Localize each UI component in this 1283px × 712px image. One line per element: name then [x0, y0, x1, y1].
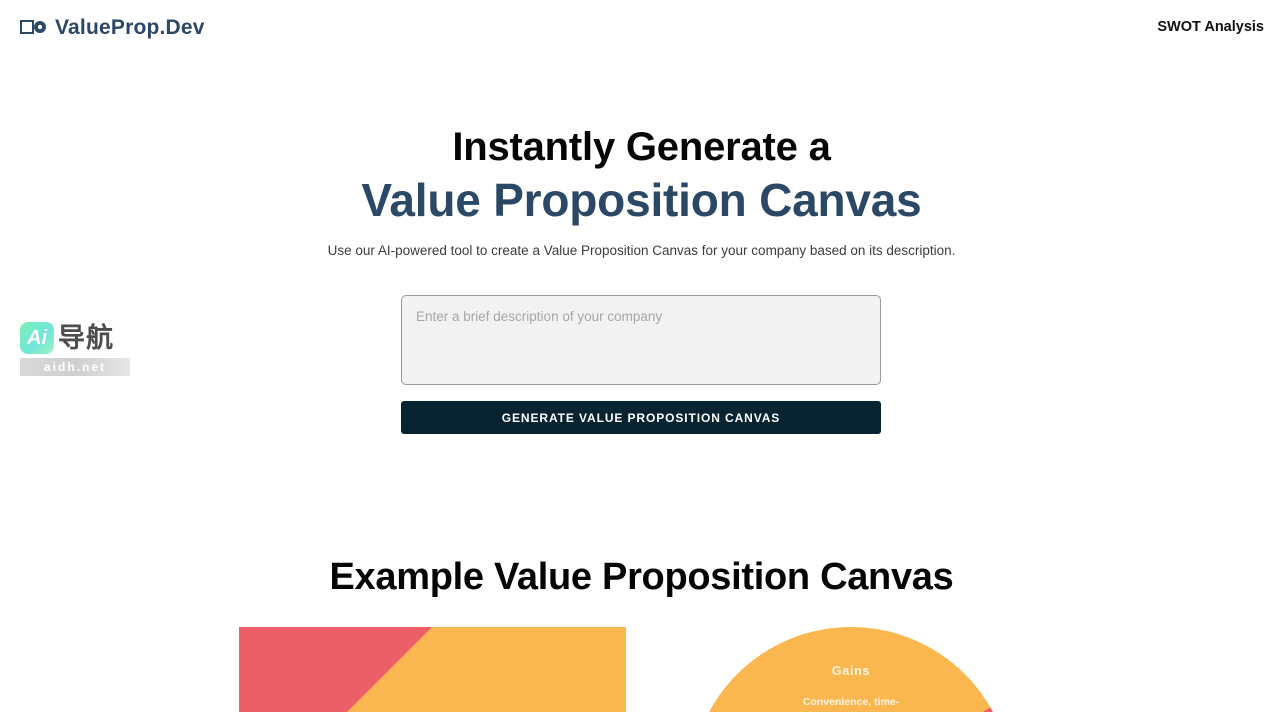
watermark-url: aidh.net: [20, 358, 130, 376]
company-description-input[interactable]: [401, 295, 881, 385]
example-section-heading: Example Value Proposition Canvas: [0, 556, 1283, 599]
brand-logo[interactable]: ValueProp.Dev: [20, 17, 205, 38]
value-map-square[interactable]: Gain Creators Exclusive deals and: [239, 627, 626, 712]
generator-form: Generate Value Proposition Canvas: [401, 295, 881, 434]
aidh-watermark: Ai 导航 aidh.net: [20, 322, 130, 376]
hero-section: Instantly Generate a Value Proposition C…: [0, 126, 1283, 261]
segment-gains-body: Convenience, time-: [776, 695, 926, 710]
hero-headline-line2: Value Proposition Canvas: [0, 173, 1283, 227]
watermark-logo-row: Ai 导航: [20, 322, 130, 354]
square-circle-logo-icon: [20, 19, 46, 35]
hero-subtitle: Use our AI-powered tool to create a Valu…: [0, 242, 1283, 261]
header-nav: SWOT Analysis: [1157, 19, 1264, 35]
generate-canvas-button[interactable]: Generate Value Proposition Canvas: [401, 401, 881, 434]
value-map-accent-triangle: [239, 627, 432, 712]
segment-gains: Gains Convenience, time-: [776, 665, 926, 710]
watermark-cn-text: 导航: [58, 325, 114, 352]
nav-link-swot-analysis[interactable]: SWOT Analysis: [1157, 19, 1264, 35]
example-canvas: Gain Creators Exclusive deals and Gains …: [0, 627, 1283, 712]
customer-profile-circle[interactable]: Gains Convenience, time-: [690, 627, 1012, 712]
hero-headline-line1: Instantly Generate a: [0, 126, 1283, 169]
site-header: ValueProp.Dev SWOT Analysis: [0, 0, 1283, 54]
brand-name: ValueProp.Dev: [55, 17, 205, 38]
segment-gains-title: Gains: [776, 665, 926, 678]
page-root: ValueProp.Dev SWOT Analysis Instantly Ge…: [0, 0, 1283, 712]
ai-badge-icon: Ai: [20, 322, 54, 354]
